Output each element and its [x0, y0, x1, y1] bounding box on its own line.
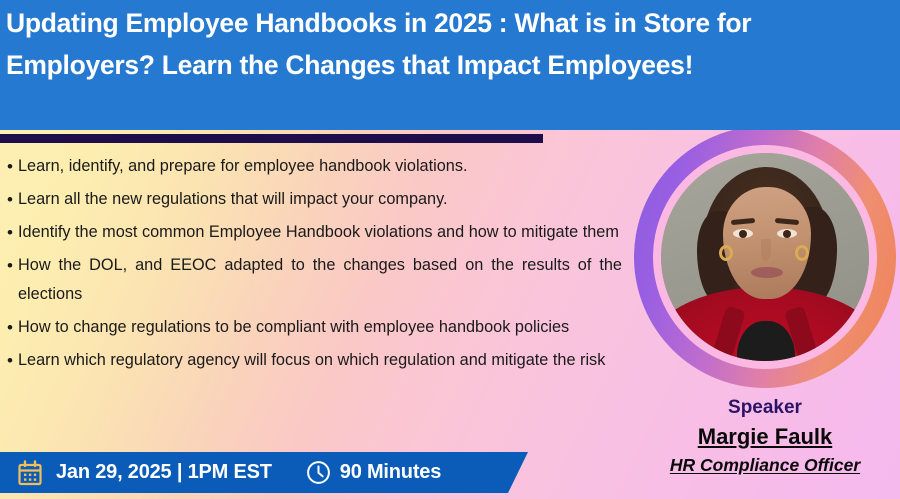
speaker-label: Speaker — [630, 396, 900, 420]
bullet-marker-icon: • — [0, 313, 18, 342]
event-details-content: Jan 29, 2025 | 1PM EST 90 Minutes — [0, 459, 441, 487]
page-title: Updating Employee Handbooks in 2025 : Wh… — [6, 2, 886, 86]
speaker-credits: Speaker Margie Faulk HR Compliance Offic… — [630, 396, 900, 478]
list-item-label: How the DOL, and EEOC adapted to the cha… — [18, 251, 636, 309]
accent-divider — [0, 134, 543, 143]
list-item-label: Identify the most common Employee Handbo… — [18, 218, 636, 247]
portrait-earring-left — [719, 245, 733, 261]
event-duration-text: 90 Minutes — [340, 461, 441, 484]
list-item: • Learn, identify, and prepare for emplo… — [0, 152, 636, 181]
list-item: • How the DOL, and EEOC adapted to the c… — [0, 251, 636, 309]
webinar-poster: Updating Employee Handbooks in 2025 : Wh… — [0, 0, 900, 499]
agenda-bullet-list: • Learn, identify, and prepare for emplo… — [0, 152, 636, 379]
list-item: • How to change regulations to be compli… — [0, 313, 636, 342]
list-item-label: How to change regulations to be complian… — [18, 313, 636, 342]
event-date-text: Jan 29, 2025 | 1PM EST — [56, 461, 272, 484]
portrait-nose — [761, 239, 771, 261]
speaker-name: Margie Faulk — [630, 422, 900, 452]
speaker-photo-ring — [634, 126, 896, 388]
bullet-marker-icon: • — [0, 346, 18, 375]
bullet-marker-icon: • — [0, 251, 18, 280]
event-details-banner: Jan 29, 2025 | 1PM EST 90 Minutes — [0, 452, 528, 493]
speaker-role: HR Compliance Officer — [630, 452, 900, 478]
bullet-marker-icon: • — [0, 218, 18, 247]
portrait-pupil-left — [739, 230, 747, 238]
portrait-lips — [751, 267, 783, 278]
header-banner: Updating Employee Handbooks in 2025 : Wh… — [0, 0, 900, 130]
list-item-label: Learn all the new regulations that will … — [18, 185, 636, 214]
list-item: • Identify the most common Employee Hand… — [0, 218, 636, 247]
list-item-label: Learn, identify, and prepare for employe… — [18, 152, 636, 181]
clock-icon — [306, 460, 331, 485]
portrait-pupil-right — [783, 230, 791, 238]
portrait-earring-right — [795, 245, 809, 261]
calendar-icon — [16, 459, 44, 487]
list-item: • Learn all the new regulations that wil… — [0, 185, 636, 214]
list-item-label: Learn which regulatory agency will focus… — [18, 346, 636, 375]
list-item: • Learn which regulatory agency will foc… — [0, 346, 636, 375]
bullet-marker-icon: • — [0, 185, 18, 214]
bullet-marker-icon: • — [0, 152, 18, 181]
avatar — [661, 153, 869, 361]
